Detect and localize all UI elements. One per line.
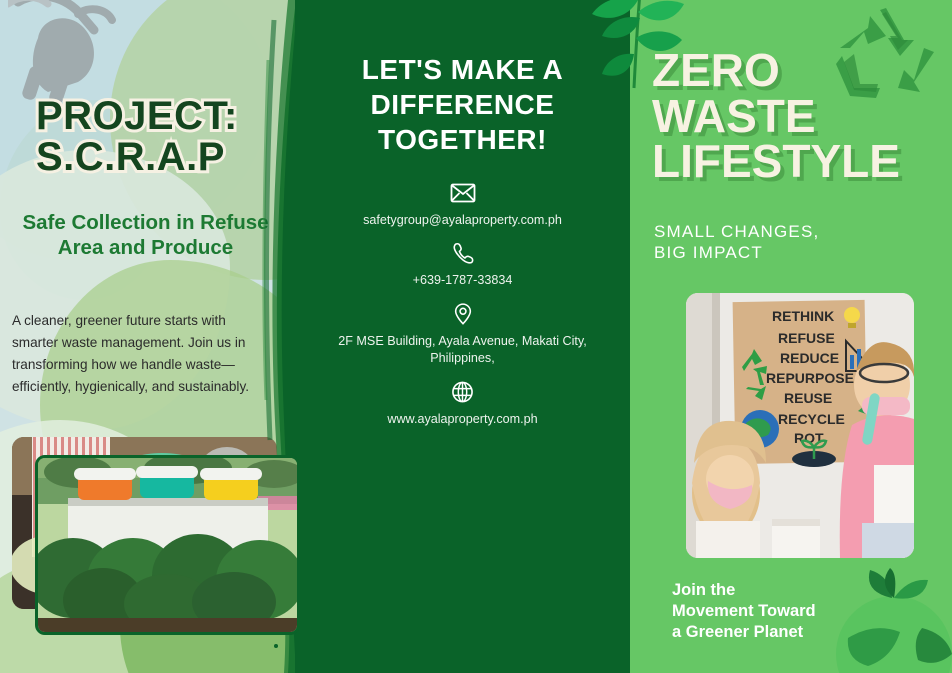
location-pin-icon xyxy=(453,303,473,325)
recycle-symbol-icon xyxy=(828,4,940,104)
globe-icon xyxy=(451,381,474,403)
svg-text:REDUCE: REDUCE xyxy=(780,350,839,366)
phone-icon xyxy=(452,242,474,264)
contact-item-email[interactable]: safetygroup@ayalaproperty.com.ph xyxy=(311,182,614,229)
svg-text:REUSE: REUSE xyxy=(784,390,832,406)
zero-subtitle-line-2: BIG IMPACT xyxy=(654,243,763,262)
contact-item-address[interactable]: 2F MSE Building, Ayala Avenue, Makati Ci… xyxy=(311,303,614,368)
project-subtitle: Safe Collection in Refuse Area and Produ… xyxy=(18,210,273,261)
cta-line-3: a Greener Planet xyxy=(672,623,803,641)
contact-value-phone: +639-1787-33834 xyxy=(311,272,614,289)
contact-list: safetygroup@ayalaproperty.com.ph +639-17… xyxy=(295,182,630,441)
brochure-canvas: PROJECT: S.C.R.A.P Safe Collection in Re… xyxy=(0,0,952,673)
project-title-line-2: S.C.R.A.P xyxy=(36,135,225,179)
contact-value-email: safetygroup@ayalaproperty.com.ph xyxy=(311,212,614,229)
svg-text:ROT: ROT xyxy=(794,430,824,446)
envelope-icon xyxy=(450,182,476,204)
cta-line-2: Movement Toward xyxy=(672,602,816,620)
project-body-text: A cleaner, greener future starts with sm… xyxy=(12,310,274,398)
project-title-line-1: PROJECT: xyxy=(36,94,238,138)
zero-title-line-2: WASTE xyxy=(652,90,816,142)
svg-text:RECYCLE: RECYCLE xyxy=(778,411,845,427)
page-title: PROJECT: S.C.R.A.P xyxy=(36,96,286,178)
contact-item-website[interactable]: www.ayalaproperty.com.ph xyxy=(311,381,614,428)
cta-line-1: Join the xyxy=(672,581,735,599)
contact-value-website: www.ayalaproperty.com.ph xyxy=(311,411,614,428)
svg-text:REFUSE: REFUSE xyxy=(778,330,835,346)
call-to-action-text: Join the Movement Toward a Greener Plane… xyxy=(672,580,902,643)
photo-recycling-bins xyxy=(35,455,300,635)
leaf-vine-icon xyxy=(578,0,698,92)
zero-title-line-3: LIFESTYLE xyxy=(652,135,900,187)
panel-middle: LET'S MAKE A DIFFERENCE TOGETHER! safety… xyxy=(295,0,630,673)
svg-text:REPURPOSE: REPURPOSE xyxy=(766,370,854,386)
contact-value-address: 2F MSE Building, Ayala Avenue, Makati Ci… xyxy=(311,333,614,368)
photo-children-poster: RETHINK REFUSE REDUCE REPURPOSE REUSE RE… xyxy=(686,293,914,558)
svg-text:RETHINK: RETHINK xyxy=(772,308,834,324)
zero-subtitle-line-1: SMALL CHANGES, xyxy=(654,222,819,241)
zero-waste-subtitle: SMALL CHANGES, BIG IMPACT xyxy=(654,222,934,263)
contact-item-phone[interactable]: +639-1787-33834 xyxy=(311,242,614,289)
